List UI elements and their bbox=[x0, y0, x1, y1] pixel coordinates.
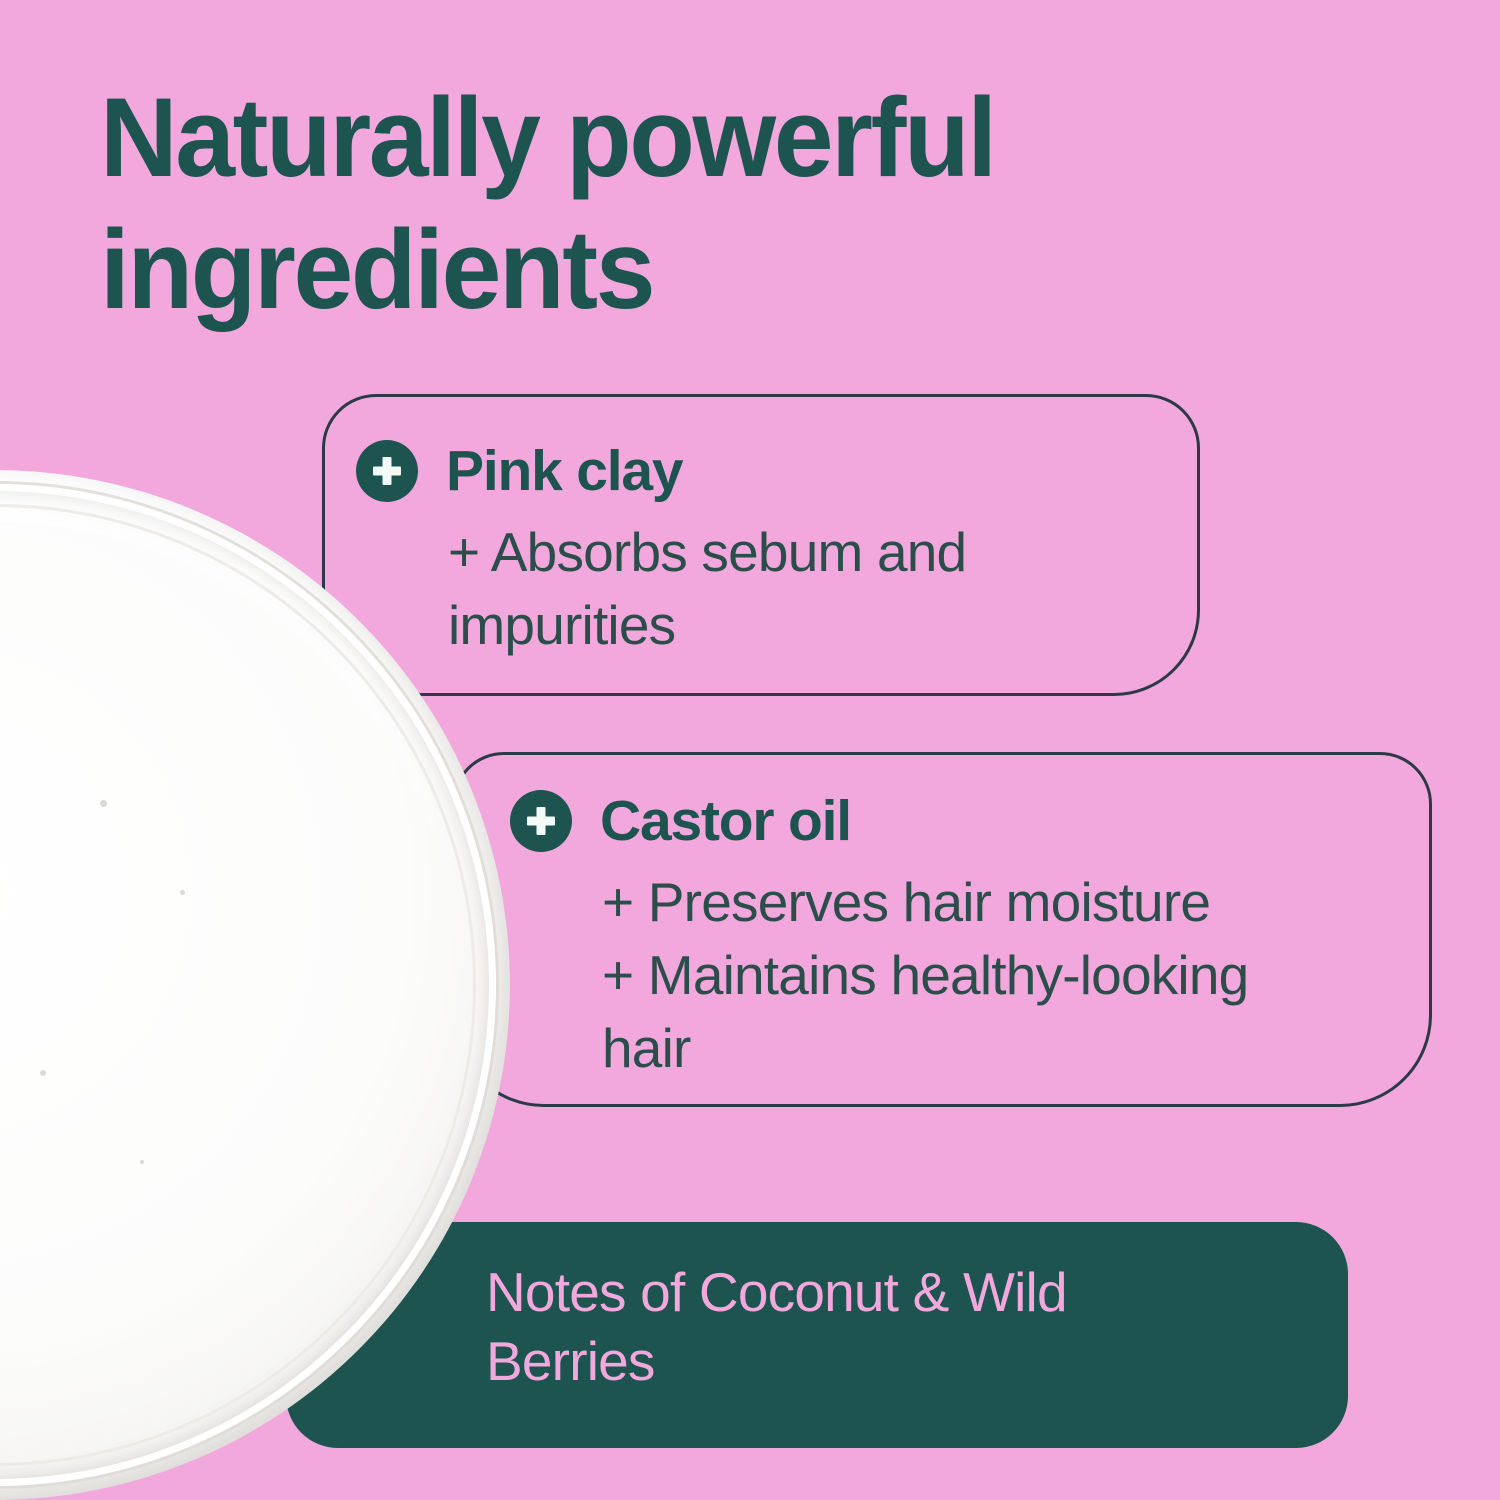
castor-oil-heading-row: Castor oil bbox=[510, 790, 1440, 852]
ingredient-name: Pink clay bbox=[446, 443, 682, 500]
scent-banner-text: Notes of Coconut & Wild Berries bbox=[486, 1258, 1246, 1397]
bowl-speck bbox=[100, 800, 107, 807]
bowl-speck bbox=[180, 890, 185, 895]
pink-clay-content: Pink clay + Absorbs sebum and impurities bbox=[356, 440, 1176, 662]
bowl-speck bbox=[140, 1160, 144, 1164]
page-title: Naturally powerful ingredients bbox=[100, 72, 1233, 336]
ingredient-name: Castor oil bbox=[600, 793, 851, 850]
ingredient-benefits: + Preserves hair moisture + Maintains he… bbox=[602, 866, 1440, 1085]
plus-icon bbox=[510, 790, 572, 852]
bowl-speck bbox=[40, 1070, 46, 1076]
castor-oil-content: Castor oil + Preserves hair moisture + M… bbox=[510, 790, 1440, 1085]
ingredients-infographic: Naturally powerful ingredients bbox=[0, 0, 1500, 1500]
plus-icon bbox=[356, 440, 418, 502]
ingredient-benefits: + Absorbs sebum and impurities bbox=[448, 516, 1176, 662]
pink-clay-heading-row: Pink clay bbox=[356, 440, 1176, 502]
